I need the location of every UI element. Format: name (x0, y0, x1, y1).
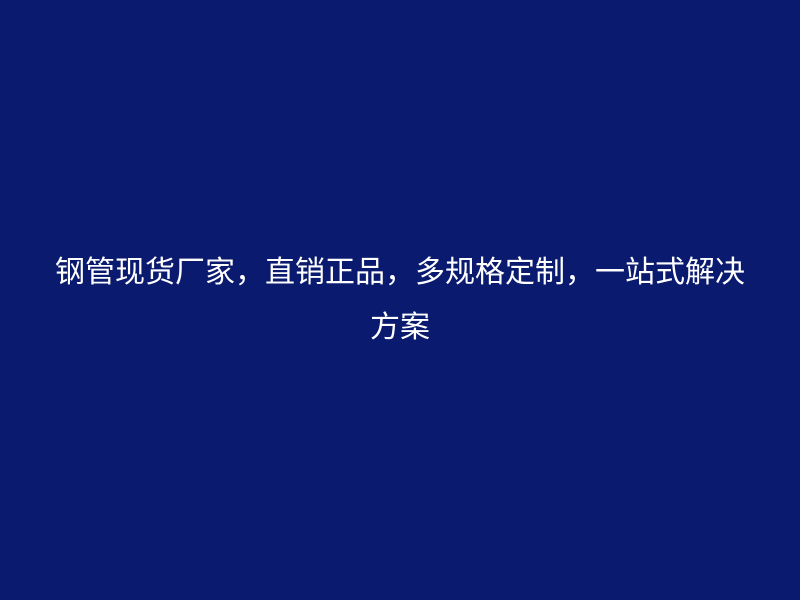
promo-banner: 钢管现货厂家，直销正品，多规格定制，一站式解决方案 (0, 0, 800, 600)
banner-headline: 钢管现货厂家，直销正品，多规格定制，一站式解决方案 (50, 245, 750, 355)
headline-block: 钢管现货厂家，直销正品，多规格定制，一站式解决方案 (50, 245, 750, 355)
